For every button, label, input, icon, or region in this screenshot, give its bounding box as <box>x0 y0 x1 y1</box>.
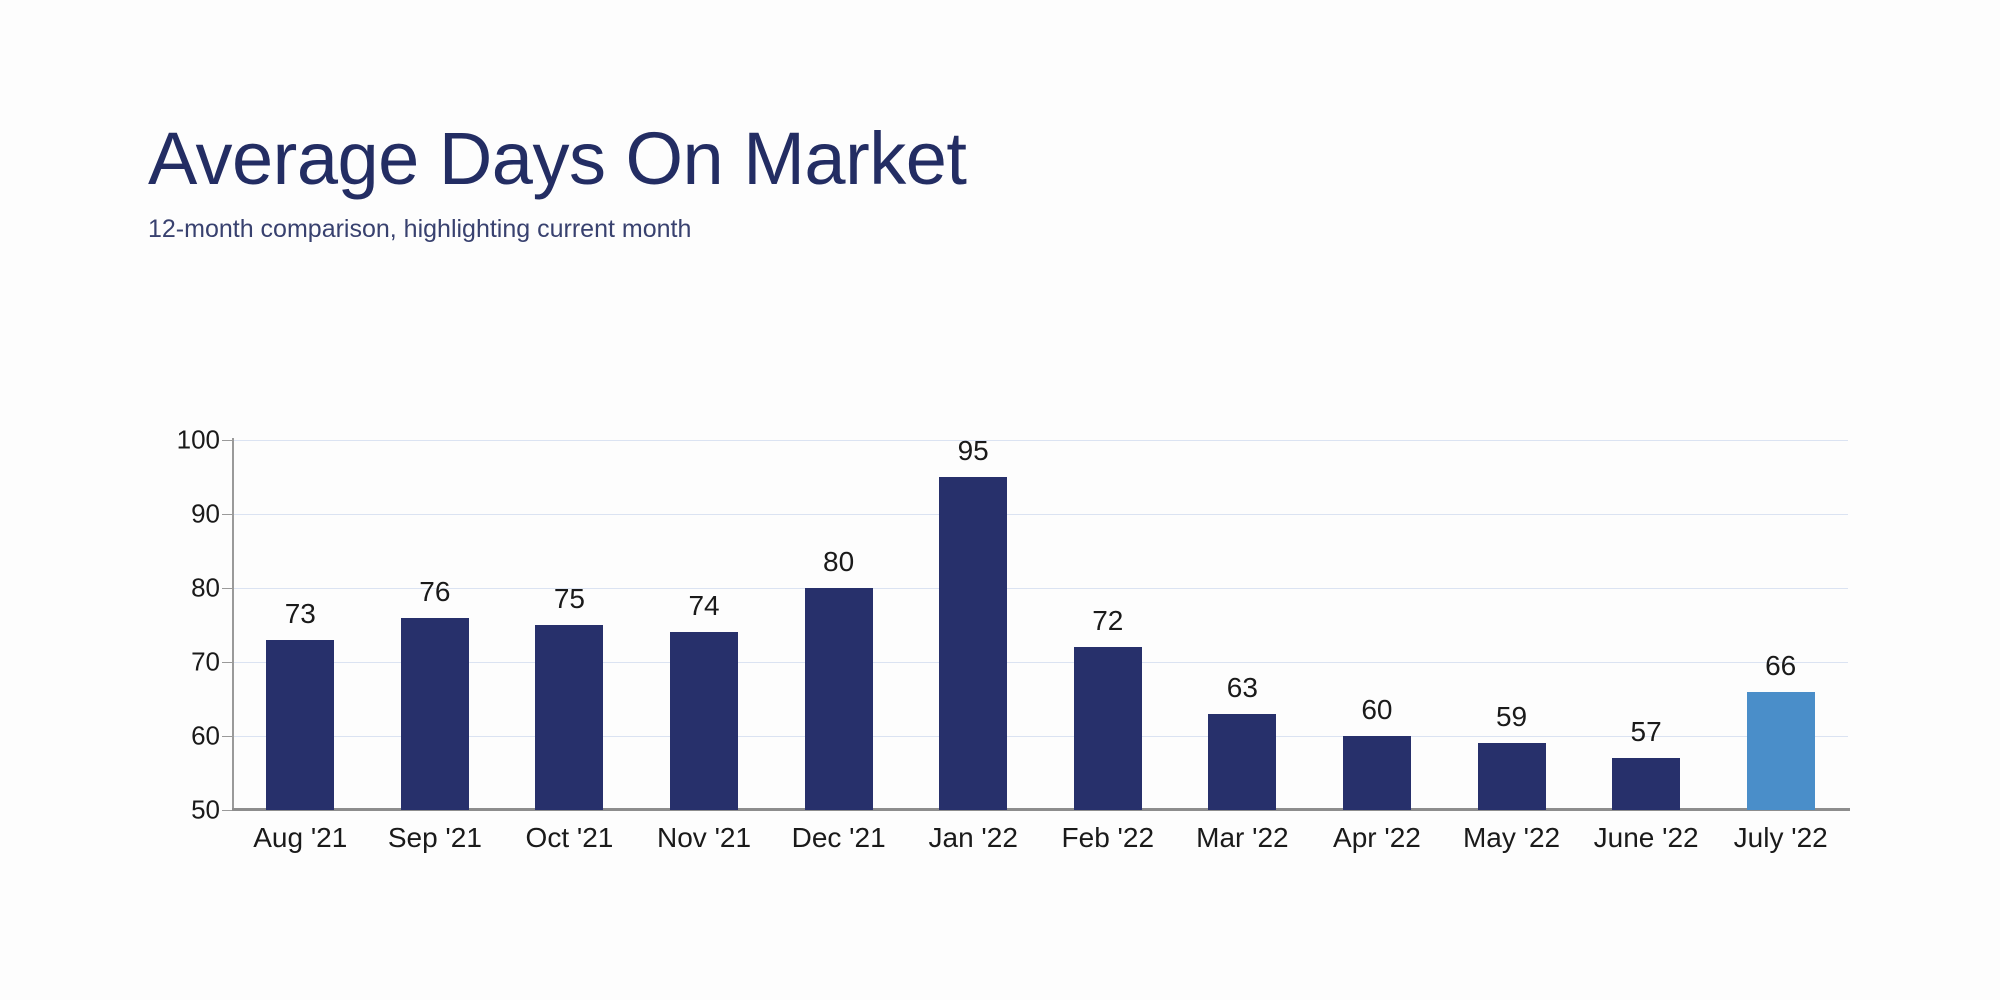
bar-value-label: 74 <box>688 590 719 622</box>
bar[interactable] <box>805 588 873 810</box>
bar-slot: 60 <box>1310 440 1445 810</box>
bar-value-label: 60 <box>1361 694 1392 726</box>
bar-slot: 59 <box>1444 440 1579 810</box>
bar-slot: 75 <box>502 440 637 810</box>
x-tick-label: Sep '21 <box>388 822 482 854</box>
bar-slot: 57 <box>1579 440 1714 810</box>
y-tick-label: 60 <box>191 721 220 752</box>
bar-chart: 5060708090100 737675748095726360595766 A… <box>148 430 1868 850</box>
bar[interactable] <box>1208 714 1276 810</box>
x-tick-label: Jan '22 <box>928 822 1017 854</box>
x-tick-label: Nov '21 <box>657 822 751 854</box>
bar-slot: 72 <box>1041 440 1176 810</box>
bar-value-label: 80 <box>823 546 854 578</box>
bar[interactable] <box>1074 647 1142 810</box>
y-axis-labels: 5060708090100 <box>148 440 220 810</box>
x-tick-label: Dec '21 <box>792 822 886 854</box>
bar-slot: 63 <box>1175 440 1310 810</box>
x-tick-label: Feb '22 <box>1062 822 1155 854</box>
bar-value-label: 66 <box>1765 650 1796 682</box>
bar-value-label: 73 <box>285 598 316 630</box>
page-title: Average Days On Market <box>148 118 1648 200</box>
y-tick-label: 80 <box>191 573 220 604</box>
bar[interactable] <box>535 625 603 810</box>
x-tick-label: June '22 <box>1594 822 1699 854</box>
bar-value-label: 95 <box>958 435 989 467</box>
bar[interactable] <box>401 618 469 810</box>
chart-page: Average Days On Market 12-month comparis… <box>0 0 2000 1000</box>
bar[interactable] <box>1478 743 1546 810</box>
bar-slot: 74 <box>637 440 772 810</box>
bar-slot: 76 <box>368 440 503 810</box>
x-tick-label: May '22 <box>1463 822 1560 854</box>
x-tick-label: Oct '21 <box>526 822 614 854</box>
y-tick-label: 70 <box>191 647 220 678</box>
bar-slot: 66 <box>1713 440 1848 810</box>
y-tick-label: 90 <box>191 499 220 530</box>
bar-value-label: 59 <box>1496 701 1527 733</box>
bar-group: 737675748095726360595766 <box>233 440 1848 810</box>
x-tick-label: July '22 <box>1734 822 1828 854</box>
bar-value-label: 72 <box>1092 605 1123 637</box>
bar[interactable] <box>939 477 1007 810</box>
bar[interactable] <box>1612 758 1680 810</box>
page-subtitle: 12-month comparison, highlighting curren… <box>148 214 1648 244</box>
bar[interactable] <box>670 632 738 810</box>
bar[interactable] <box>1343 736 1411 810</box>
bar-value-label: 75 <box>554 583 585 615</box>
bar-value-label: 76 <box>419 576 450 608</box>
x-tick-label: Aug '21 <box>253 822 347 854</box>
bar[interactable] <box>266 640 334 810</box>
bar-value-label: 57 <box>1631 716 1662 748</box>
x-axis-labels: Aug '21Sep '21Oct '21Nov '21Dec '21Jan '… <box>233 822 1848 870</box>
bar-highlighted[interactable] <box>1747 692 1815 810</box>
bar-value-label: 63 <box>1227 672 1258 704</box>
bar-slot: 95 <box>906 440 1041 810</box>
bar-slot: 73 <box>233 440 368 810</box>
x-tick-label: Apr '22 <box>1333 822 1421 854</box>
chart-header: Average Days On Market 12-month comparis… <box>148 118 1648 244</box>
x-tick-label: Mar '22 <box>1196 822 1289 854</box>
y-tick-label: 100 <box>177 425 220 456</box>
y-tick-label: 50 <box>191 795 220 826</box>
bar-slot: 80 <box>771 440 906 810</box>
